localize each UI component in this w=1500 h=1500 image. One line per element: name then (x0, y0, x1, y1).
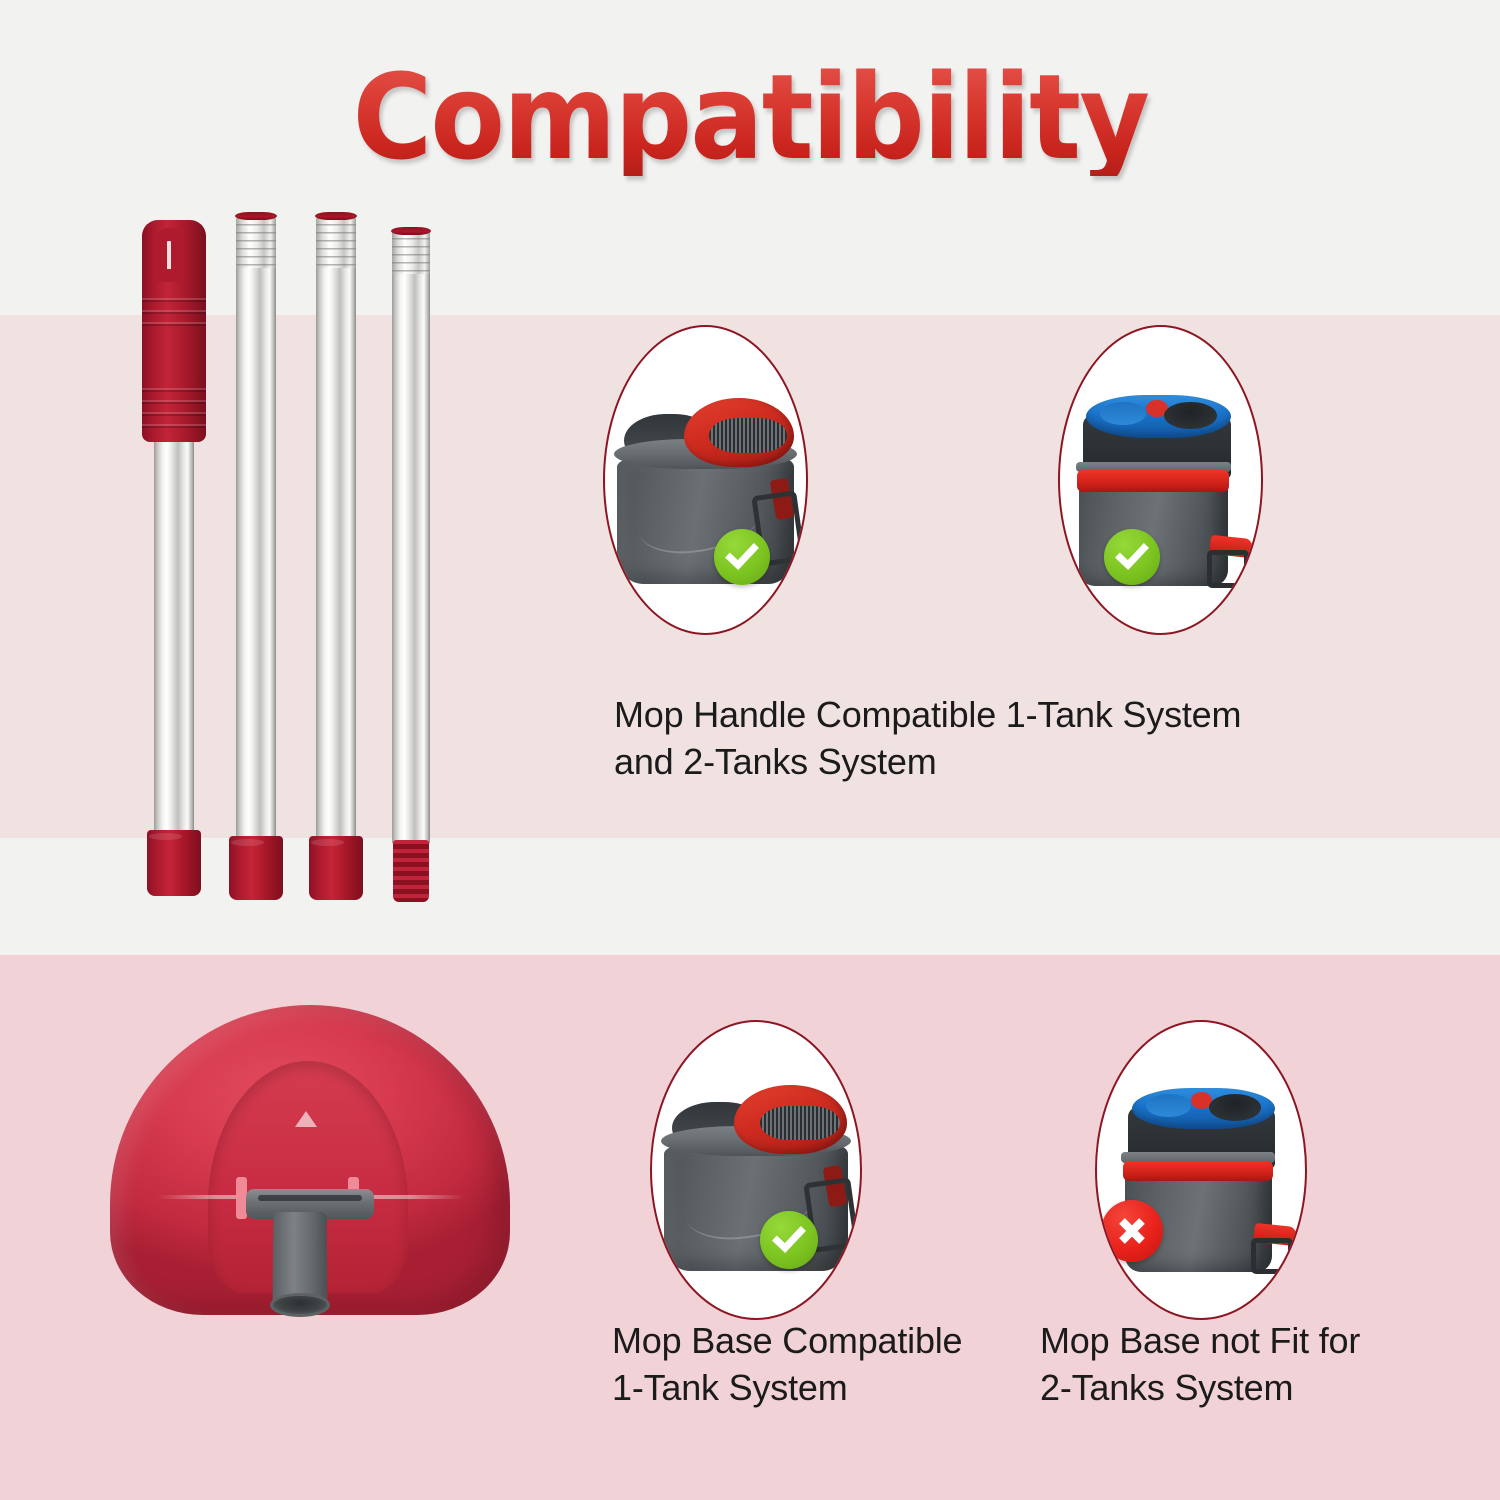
cross-badge-icon (1101, 1200, 1163, 1262)
hanging-loop-icon (154, 228, 185, 282)
pole-shaft (316, 218, 356, 870)
pole-grip (142, 220, 206, 442)
caption-handle-compatibility: Mop Handle Compatible 1-Tank System and … (614, 692, 1374, 786)
pole-end-cap (229, 836, 283, 900)
caption-base-two-tank: Mop Base not Fit for 2-Tanks System (1040, 1318, 1440, 1412)
grip-ribs-upper (142, 298, 206, 334)
mop-handle-pole-group (148, 196, 448, 916)
pole-threaded-collar (236, 216, 276, 268)
mop-base-pole-socket (270, 1293, 330, 1317)
pole-screw-thread-tip (393, 840, 429, 902)
pole-section-threaded (392, 224, 430, 902)
pole-top-red-rim (235, 212, 277, 220)
page-title: Compatibility (352, 58, 1148, 176)
pole-end-cap (147, 830, 201, 896)
pole-section-extension-2 (316, 210, 356, 900)
pole-top-red-rim (391, 227, 431, 235)
check-badge-icon (1104, 529, 1160, 585)
comparison-circle-two-tank-handle (1058, 325, 1263, 635)
direction-arrow-icon (295, 1111, 317, 1127)
pole-top-red-rim (315, 212, 357, 220)
comparison-circle-two-tank-base (1095, 1020, 1307, 1320)
lid-wash-opening (1146, 1094, 1191, 1117)
caption-base-one-tank: Mop Base Compatible 1-Tank System (612, 1318, 1012, 1412)
grip-ribs-lower (142, 388, 206, 432)
bucket-handle (1207, 550, 1249, 588)
pole-shaft (236, 218, 276, 870)
pole-threaded-collar (316, 216, 356, 268)
check-badge-icon (714, 529, 770, 585)
pole-section-grip (154, 220, 194, 896)
bucket-handle (1251, 1238, 1292, 1275)
comparison-circle-one-tank-base (650, 1020, 862, 1320)
bucket-one-tank (664, 1069, 847, 1270)
mop-base-plate (110, 1005, 510, 1345)
bucket-red-band (1077, 470, 1229, 491)
pole-threaded-collar (392, 230, 430, 274)
pole-end-cap (309, 836, 363, 900)
pole-shaft (392, 232, 430, 844)
lid-spin-opening (1209, 1094, 1261, 1121)
comparison-circle-one-tank-handle (603, 325, 808, 635)
bucket-two-tank (1072, 376, 1249, 590)
bucket-red-band (1123, 1161, 1273, 1182)
spin-basket (709, 418, 787, 452)
pole-section-extension-1 (236, 210, 276, 900)
page-title-wrapper: Compatibility (0, 58, 1500, 176)
spin-basket (760, 1106, 841, 1140)
infographic-canvas: Compatibility (0, 0, 1500, 1500)
